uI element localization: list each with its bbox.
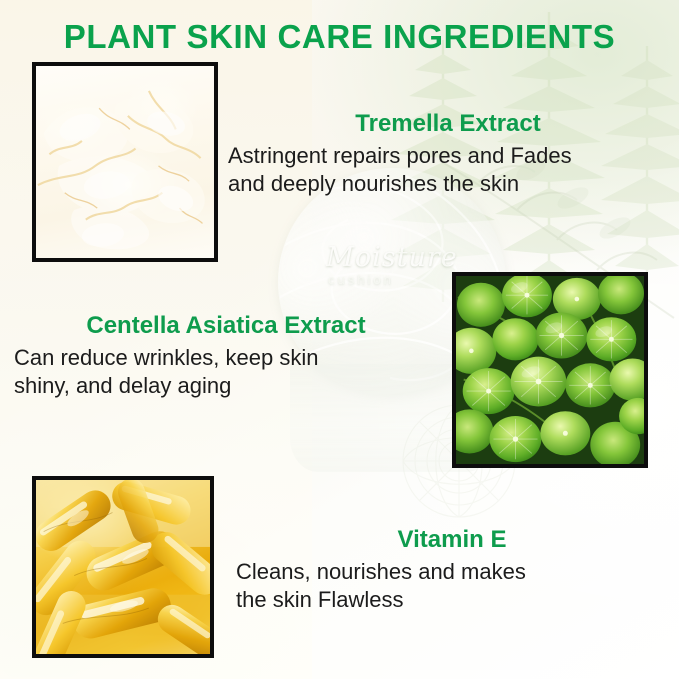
ingredient-block-tremella: Tremella Extract Astringent repairs pore… — [228, 110, 668, 197]
ingredient-body-vitamin-e-line-2: the skin Flawless — [236, 586, 668, 613]
watermark-brand-text: Moisture — [270, 242, 514, 273]
centella-photo — [452, 272, 648, 468]
ingredient-block-vitamin-e: Vitamin E Cleans, nourishes and makes th… — [236, 526, 668, 613]
ingredient-body-tremella-line-1: Astringent repairs pores and Fades — [228, 142, 668, 169]
ingredient-body-centella-line-1: Can reduce wrinkles, keep skin — [14, 344, 438, 371]
tremella-photo-image — [36, 66, 214, 258]
ingredient-body-centella-line-2: shiny, and delay aging — [14, 372, 438, 399]
ingredient-heading-tremella: Tremella Extract — [228, 110, 668, 138]
ingredient-body-tremella-line-2: and deeply nourishes the skin — [228, 170, 668, 197]
ingredient-heading-centella: Centella Asiatica Extract — [14, 312, 438, 340]
tremella-photo — [32, 62, 218, 262]
centella-photo-image — [456, 276, 644, 464]
ingredient-block-centella: Centella Asiatica Extract Can reduce wri… — [14, 312, 438, 399]
ingredients-poster: Moisture cushion PLANT SKIN CARE INGREDI… — [0, 0, 679, 679]
page-title: PLANT SKIN CARE INGREDIENTS — [0, 18, 679, 56]
vitamin-e-photo — [32, 476, 214, 658]
ingredient-body-vitamin-e-line-1: Cleans, nourishes and makes — [236, 558, 668, 585]
vitamin-e-photo-image — [36, 480, 210, 654]
ingredient-heading-vitamin-e: Vitamin E — [236, 526, 668, 554]
